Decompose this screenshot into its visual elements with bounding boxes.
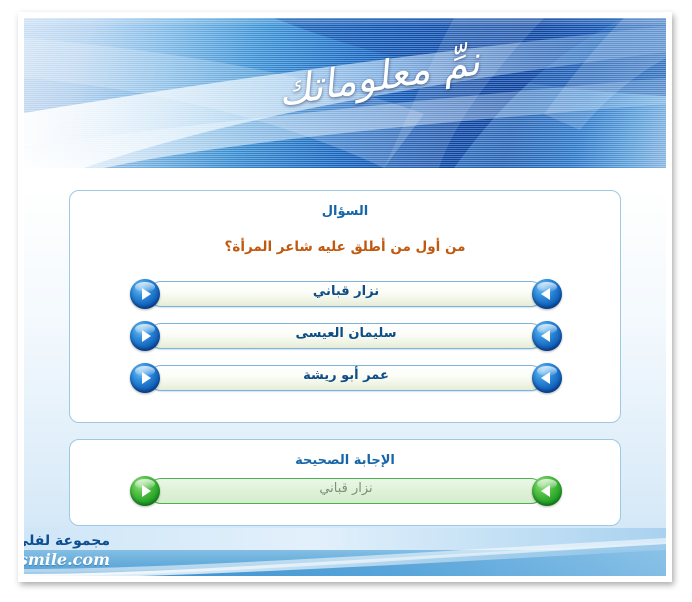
question-text: من أول من أطلق عليه شاعر المرأة؟ [70,239,620,255]
footer-arabic-text: مجموعة لفلي سمايل [24,533,110,550]
answer-panel: الإجابة الصحيحة نزار قباني [69,439,621,526]
footer-credit: مجموعة لفلي سمايل lovely0smile.com [24,533,110,569]
play-arrow-right-icon[interactable] [130,321,160,351]
play-arrow-right-icon[interactable] [130,363,160,393]
answer-row: نزار قباني [130,476,562,506]
question-panel: السؤال من أول من أطلق عليه شاعر المرأة؟ [69,190,621,423]
play-arrow-right-icon [130,476,160,506]
option-label: سليمان العيسى [130,326,562,341]
answer-wrapper: نزار قباني [70,476,622,506]
triangle-left-glyph [541,330,550,342]
option-label: عمر أبو ريشة [130,368,562,383]
triangle-right-glyph [142,288,151,300]
footer-swoosh-graphic [24,528,666,576]
triangle-right-glyph [142,330,151,342]
header-ribbon-graphic [24,18,666,168]
header-banner: نمِّ معلوماتك [24,18,666,168]
triangle-right-glyph [142,372,151,384]
answer-text: نزار قباني [130,481,562,496]
question-panel-title: السؤال [70,204,620,219]
play-arrow-left-icon[interactable] [532,321,562,351]
triangle-left-glyph [541,485,550,497]
triangle-left-glyph [541,372,550,384]
play-arrow-left-icon[interactable] [532,363,562,393]
options-list: نزار قباني سليمان العيسى [70,279,622,405]
page-inner: نمِّ معلوماتك lovely0smile.com السؤال من… [24,18,666,576]
option-label: نزار قباني [130,284,562,299]
main-content: lovely0smile.com السؤال من أول من أطلق ع… [24,168,666,528]
page-frame: نمِّ معلوماتك lovely0smile.com السؤال من… [18,12,672,582]
footer-url-text: lovely0smile.com [24,550,110,569]
option-row[interactable]: سليمان العيسى [130,321,562,351]
option-row[interactable]: عمر أبو ريشة [130,363,562,393]
answer-panel-title: الإجابة الصحيحة [70,453,620,468]
triangle-left-glyph [541,288,550,300]
footer-banner: مجموعة لفلي سمايل lovely0smile.com [24,528,666,576]
option-row[interactable]: نزار قباني [130,279,562,309]
play-arrow-left-icon[interactable] [532,279,562,309]
play-arrow-left-icon [532,476,562,506]
triangle-right-glyph [142,485,151,497]
play-arrow-right-icon[interactable] [130,279,160,309]
